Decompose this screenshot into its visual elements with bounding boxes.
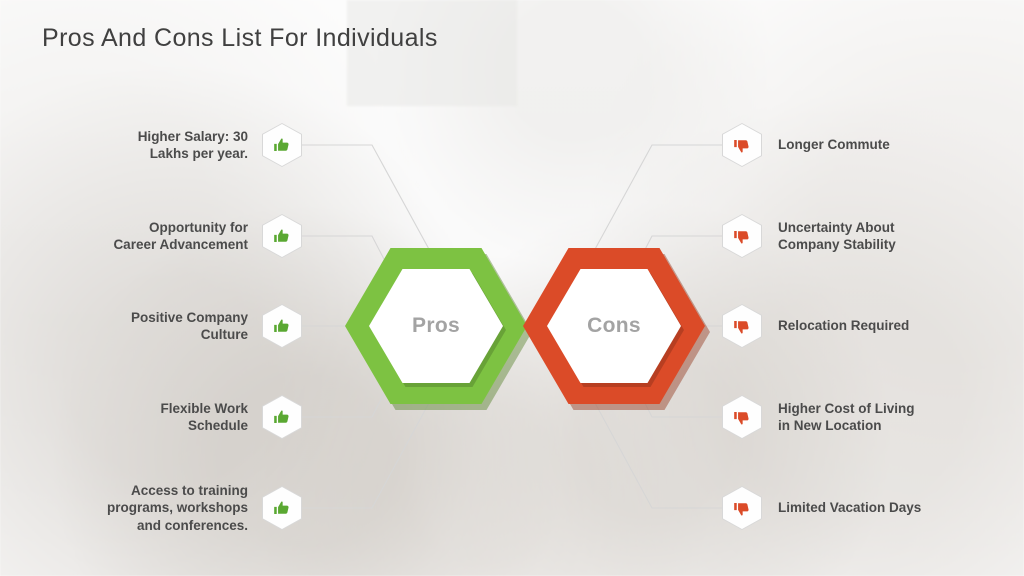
pros-item-2-label: Opportunity for Career Advancement	[113, 219, 262, 254]
pros-item-3-label: Positive Company Culture	[131, 309, 262, 344]
thumbs-up-icon	[262, 486, 302, 530]
cons-center-label: Cons	[587, 314, 641, 338]
cons-item-5[interactable]: Limited Vacation Days	[722, 488, 1012, 528]
thumbs-down-icon	[722, 395, 762, 439]
pros-item-5[interactable]: Access to training programs, workshops a…	[40, 488, 302, 528]
pros-item-2[interactable]: Opportunity for Career Advancement	[40, 216, 302, 256]
cons-item-4-label: Higher Cost of Living in New Location	[762, 400, 915, 435]
cons-item-5-label: Limited Vacation Days	[762, 499, 921, 517]
cons-item-2[interactable]: Uncertainty About Company Stability	[722, 216, 1012, 256]
pros-center-label: Pros	[412, 314, 460, 338]
thumbs-up-icon	[262, 123, 302, 167]
cons-item-1[interactable]: Longer Commute	[722, 125, 1012, 165]
cons-item-2-label: Uncertainty About Company Stability	[762, 219, 896, 254]
pros-item-4-label: Flexible Work Schedule	[160, 400, 262, 435]
pros-item-4[interactable]: Flexible Work Schedule	[40, 397, 302, 437]
pros-item-1[interactable]: Higher Salary: 30 Lakhs per year.	[40, 125, 302, 165]
cons-item-3-label: Relocation Required	[762, 317, 909, 335]
thumbs-down-icon	[722, 486, 762, 530]
thumbs-down-icon	[722, 214, 762, 258]
pros-item-5-label: Access to training programs, workshops a…	[107, 482, 262, 535]
pros-item-1-label: Higher Salary: 30 Lakhs per year.	[138, 128, 262, 163]
thumbs-up-icon	[262, 214, 302, 258]
thumbs-down-icon	[722, 123, 762, 167]
cons-item-3[interactable]: Relocation Required	[722, 306, 1012, 346]
pros-item-3[interactable]: Positive Company Culture	[40, 306, 302, 346]
page-title: Pros And Cons List For Individuals	[42, 24, 438, 53]
thumbs-down-icon	[722, 304, 762, 348]
thumbs-up-icon	[262, 395, 302, 439]
cons-item-1-label: Longer Commute	[762, 136, 890, 154]
cons-center-hexagon[interactable]: Cons	[523, 248, 705, 404]
pros-center-hexagon[interactable]: Pros	[345, 248, 527, 404]
thumbs-up-icon	[262, 304, 302, 348]
cons-item-4[interactable]: Higher Cost of Living in New Location	[722, 397, 1012, 437]
